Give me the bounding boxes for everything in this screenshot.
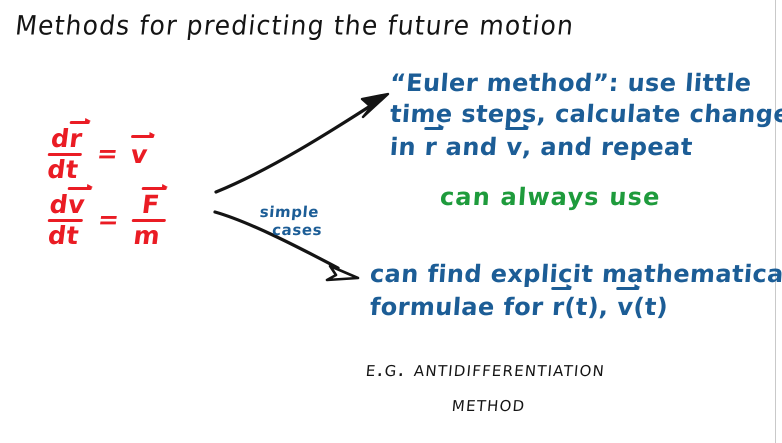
simple-cases-label: simple cases [257,203,324,239]
euler-line-3-suffix: , and repeat [521,133,693,161]
can-always-use-label: can always use [439,183,662,211]
euler-line-3: in r and v, and repeat [389,130,782,163]
equation-row-1: dr dt = v [48,120,166,186]
vector-v-icon: v [616,290,634,323]
antidifferentiation-method-line-2: Method [451,392,527,417]
vector-r-icon: r [424,130,439,163]
equation-group: dr dt = v dv dt = F m [48,120,166,252]
vector-F-icon: F [141,190,162,218]
analytic-line-2-suffix: (t) [632,293,669,321]
analytic-line-2: formulae for r(t), v(t) [369,290,782,323]
fraction-numerator: F [141,190,162,218]
equation-row-2: dv dt = F m [48,186,166,252]
fraction-dr-dt: dr dt [44,124,85,182]
euler-method-block: “Euler method”: use little time steps, c… [390,68,782,163]
page-title: Methods for predicting the future motion [14,10,576,41]
page-edge-divider [775,0,776,443]
vector-r-icon: r [551,290,566,323]
equation-1-right-side: v [129,138,149,169]
fraction-numerator: dr [50,124,85,152]
simple-cases-line-1: simple [259,203,320,221]
fraction-dv-dt: dv dt [44,190,86,248]
vector-v-icon: v [505,130,523,163]
analytic-line-2-mid: (t), [563,293,618,321]
fraction-F-m: F m [129,190,170,248]
fraction-numerator: dv [48,190,87,218]
antidifferentiation-method-line-1: e.g. Antidifferentiation [365,357,606,382]
fraction-denominator: dt [47,223,81,249]
fraction-denominator: dt [46,157,80,183]
vector-v-icon: v [67,190,87,218]
vector-r-icon: r [68,124,84,152]
analytic-formulae-block: can find explicit mathematical formulae … [370,259,782,323]
euler-line-2: time steps, calculate changes [389,99,782,130]
euler-line-3-mid: and [436,133,507,161]
equals-sign-1: = [95,139,120,168]
analytic-line-2-prefix: formulae for [369,293,553,321]
euler-line-3-prefix: in [389,133,426,161]
vector-v-icon: v [129,138,149,169]
equals-sign-2: = [96,205,121,234]
simple-cases-line-2: cases [257,221,323,239]
fraction-denominator: m [132,223,162,249]
slide-canvas: Methods for predicting the future motion… [0,0,782,443]
analytic-line-1: can find explicit mathematical [369,259,782,290]
upper-branch-arrow [216,94,388,192]
euler-line-1: “Euler method”: use little [389,68,782,99]
